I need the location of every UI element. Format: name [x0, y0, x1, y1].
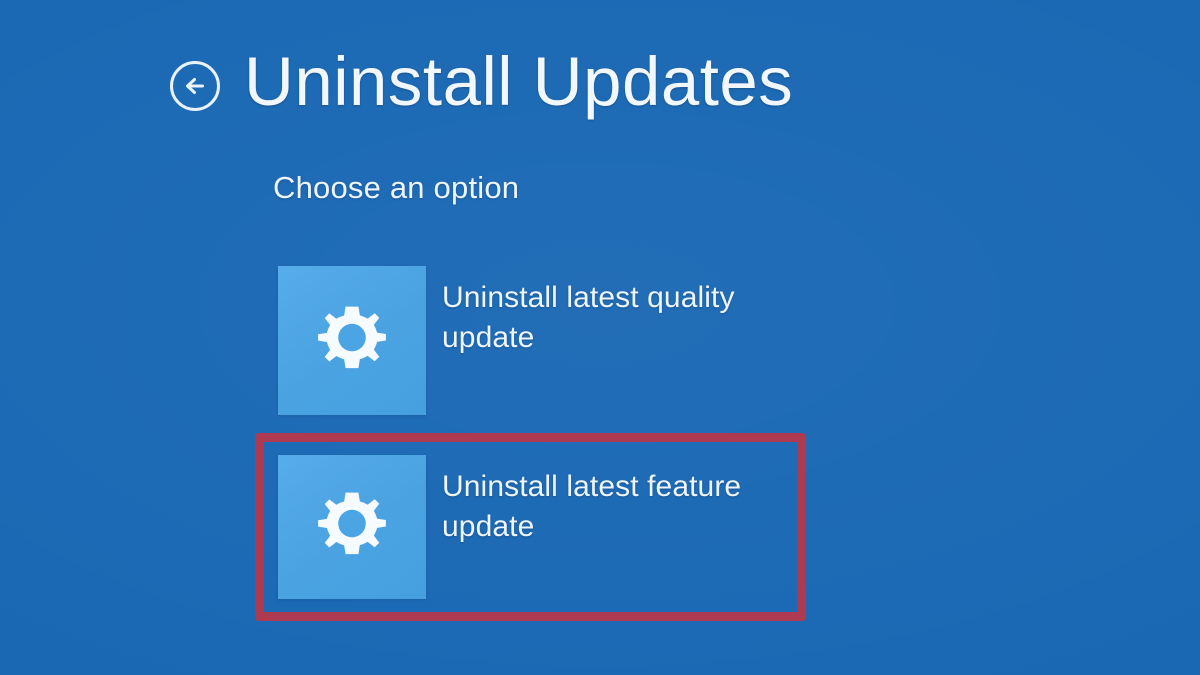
option-label: Uninstall latest quality update [442, 266, 772, 358]
option-uninstall-latest-feature-update[interactable]: Uninstall latest feature update [278, 455, 978, 599]
page-header: Uninstall Updates [168, 47, 793, 116]
back-arrow-circle-icon[interactable] [168, 59, 222, 113]
option-list: Uninstall latest quality update Uninstal… [278, 266, 978, 639]
page-title: Uninstall Updates [244, 47, 793, 116]
option-label: Uninstall latest feature update [442, 455, 772, 547]
option-uninstall-latest-quality-update[interactable]: Uninstall latest quality update [278, 266, 978, 415]
recovery-screen: Uninstall Updates Choose an option Unins… [0, 0, 1200, 675]
choose-an-option-label: Choose an option [273, 170, 519, 206]
gear-icon [278, 266, 426, 415]
gear-icon [278, 455, 426, 599]
